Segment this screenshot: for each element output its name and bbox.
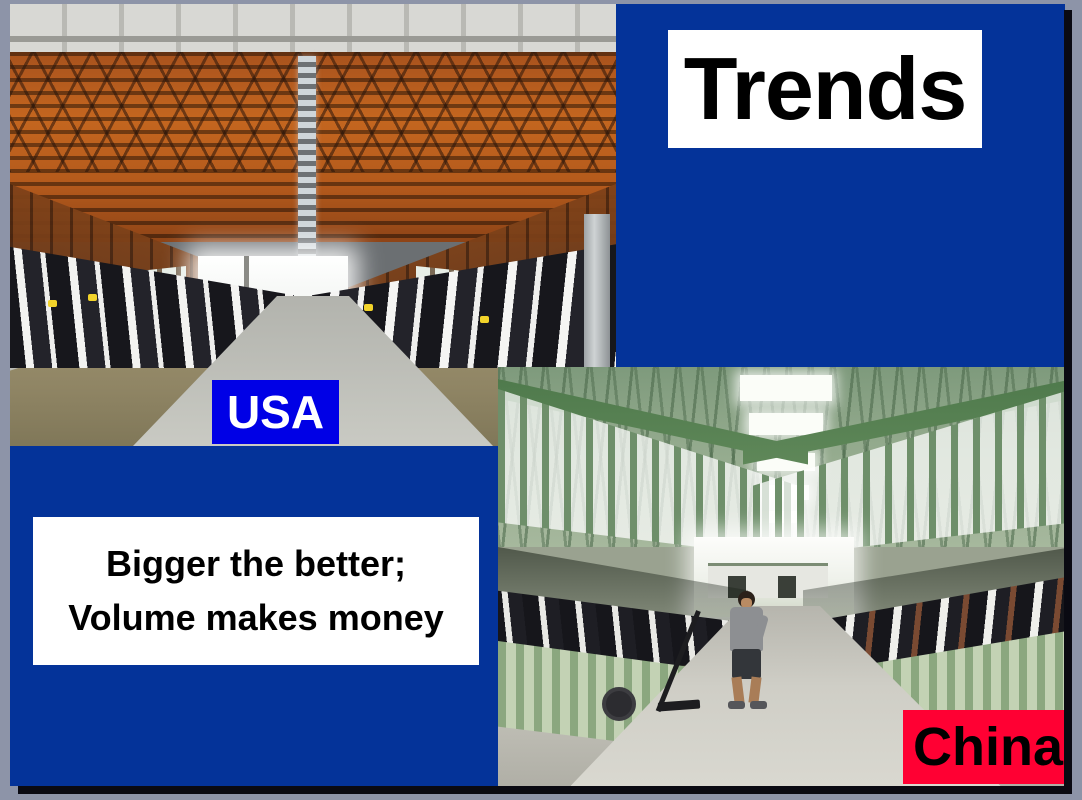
usa-ear-tag [364,304,373,311]
presentation-slide: Trends USA China Bigger the better; Volu… [10,4,1065,786]
slide-shadow-bottom [18,786,1072,794]
usa-roof-sheet [10,4,616,54]
china-label-badge: China [903,710,1065,784]
china-skylight [749,413,823,435]
china-skylight [740,375,832,401]
china-barn-worker [726,591,770,709]
worker-leg [731,676,744,703]
slide-stage: Trends USA China Bigger the better; Volu… [0,0,1082,800]
caption-box: Bigger the better; Volume makes money [33,517,479,665]
usa-label-text: USA [227,388,324,436]
worker-shorts [732,649,761,679]
china-cart-wheel [602,687,636,721]
usa-ear-tag [480,316,489,323]
china-label-text: China [913,719,1063,776]
page-title: Trends [684,43,967,135]
usa-ridge-vent [298,56,316,256]
worker-shoe [728,701,745,709]
usa-ear-tag [88,294,97,301]
slide-title-box: Trends [668,30,982,148]
caption-line-2: Volume makes money [68,599,444,637]
slide-shadow-right [1064,10,1072,793]
worker-leg [748,676,761,703]
caption-line-1: Bigger the better; [106,545,406,583]
usa-ear-tag [48,300,57,307]
worker-shoe [750,701,767,709]
usa-label-badge: USA [212,380,339,444]
